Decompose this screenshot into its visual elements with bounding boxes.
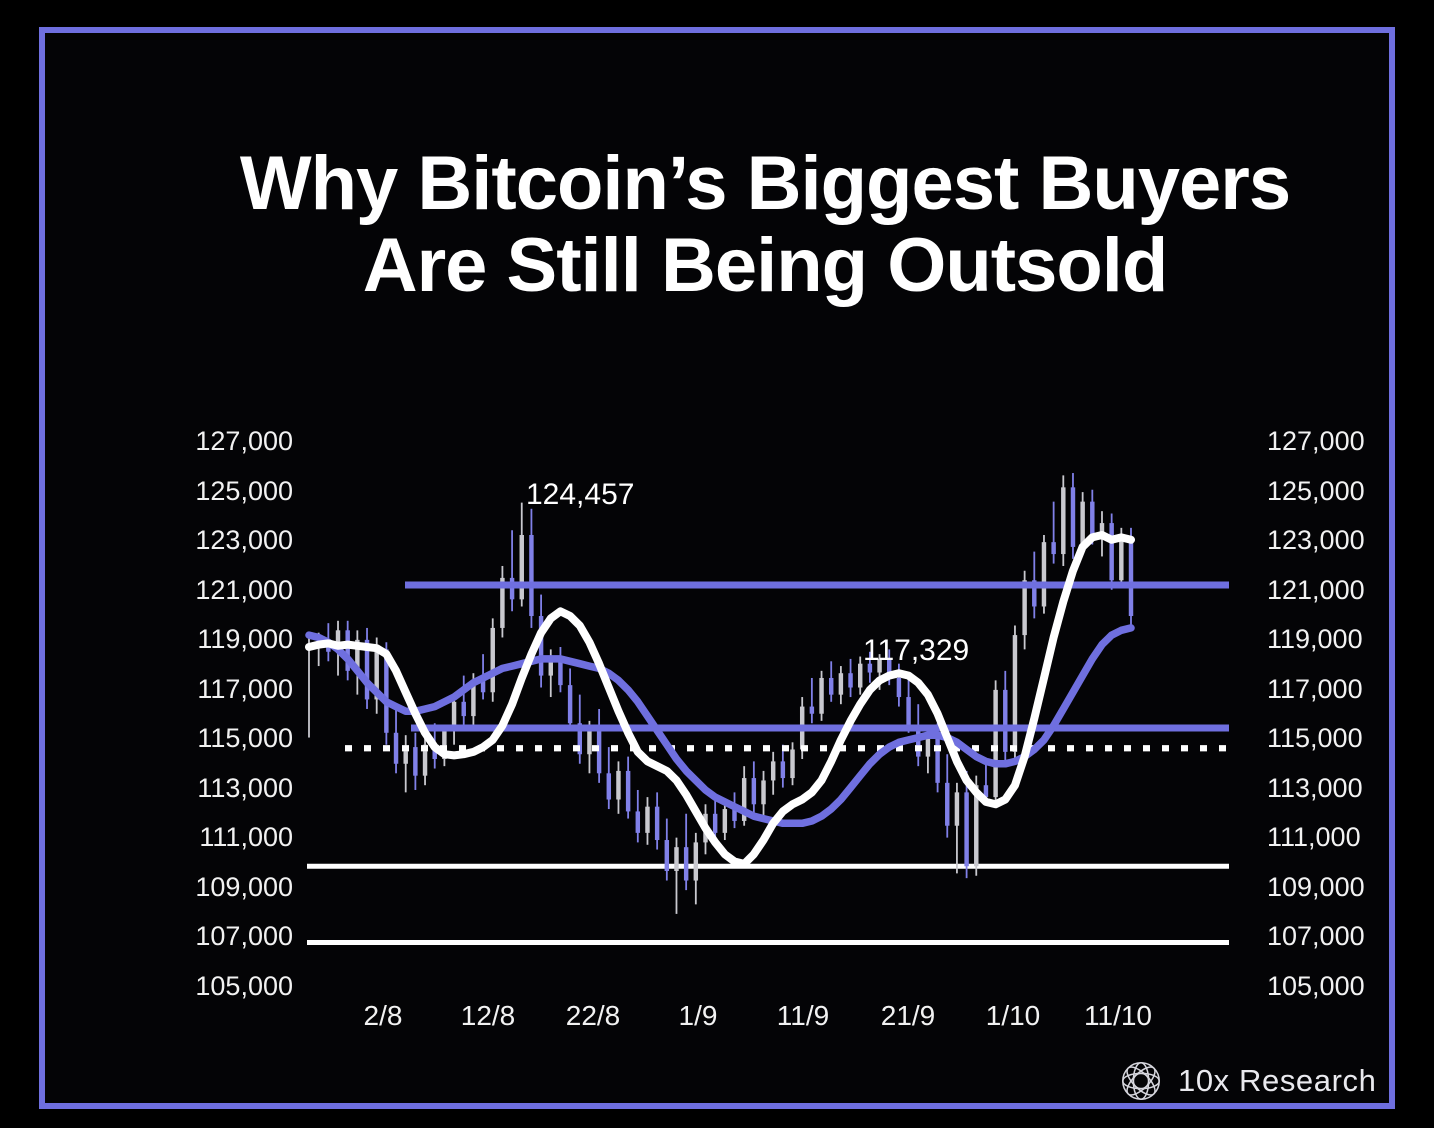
- title-line-1: Why Bitcoin’s Biggest Buyers: [240, 141, 1290, 226]
- candle-body: [752, 778, 756, 804]
- y-tick-right-10: 107,000: [1267, 912, 1434, 962]
- candle-body: [1119, 537, 1123, 580]
- candle-body: [694, 842, 698, 880]
- candle-body: [723, 809, 727, 833]
- candle-body: [510, 578, 514, 599]
- candle-body: [645, 807, 649, 833]
- y-tick-right-3: 121,000: [1267, 566, 1434, 616]
- candle-body: [858, 664, 862, 688]
- candle-body: [713, 814, 717, 833]
- candlestick-plot: [303, 423, 1229, 983]
- candle-body: [964, 792, 968, 866]
- candle-body: [587, 730, 591, 754]
- y-tick-left-0: 127,000: [123, 417, 293, 467]
- candle-body: [1051, 542, 1055, 554]
- y-tick-left-6: 115,000: [123, 714, 293, 764]
- y-tick-left-2: 123,000: [123, 516, 293, 566]
- y-tick-right-11: 105,000: [1267, 962, 1434, 1012]
- x-tick-1: 12/8: [461, 1000, 516, 1032]
- candle-body: [1090, 502, 1094, 535]
- candle-body: [839, 673, 843, 694]
- candle-body: [568, 685, 572, 723]
- candle-body: [413, 747, 417, 776]
- chart-svg: [303, 423, 1229, 983]
- x-tick-7: 11/10: [1084, 1000, 1152, 1032]
- x-tick-0: 2/8: [364, 1000, 403, 1032]
- y-tick-left-4: 119,000: [123, 615, 293, 665]
- candle-body: [848, 673, 852, 687]
- y-tick-left-11: 105,000: [123, 962, 293, 1012]
- y-tick-left-5: 117,000: [123, 665, 293, 715]
- candle-body: [819, 678, 823, 714]
- y-axis-right: 127,000125,000123,000121,000119,000117,0…: [1267, 417, 1434, 1011]
- candle-body: [491, 628, 495, 692]
- y-tick-left-9: 109,000: [123, 863, 293, 913]
- y-axis-left: 127,000125,000123,000121,000119,000117,0…: [123, 417, 293, 1011]
- candle-body: [616, 771, 620, 800]
- screenshot-root: Why Bitcoin’s Biggest Buyers Are Still B…: [0, 0, 1434, 1128]
- brand-watermark: 10x Research: [1118, 1052, 1376, 1110]
- y-tick-left-10: 107,000: [123, 912, 293, 962]
- x-axis: 2/812/822/81/911/921/91/1011/10: [303, 1000, 1229, 1044]
- annotation-swing-high: 124,457: [526, 478, 634, 512]
- candle-body: [1129, 537, 1133, 616]
- y-tick-left-7: 113,000: [123, 764, 293, 814]
- annotation-swing-mid: 117,329: [863, 634, 969, 668]
- candle-body: [993, 690, 997, 797]
- candle-body: [529, 535, 533, 616]
- candle-body: [1061, 487, 1065, 554]
- globe-sphere-icon: [1118, 1058, 1164, 1104]
- candle-body: [626, 771, 630, 812]
- y-tick-right-5: 117,000: [1267, 665, 1434, 715]
- title-line-2: Are Still Being Outsold: [105, 225, 1425, 307]
- candle-body: [520, 535, 524, 599]
- y-tick-left-3: 121,000: [123, 566, 293, 616]
- candle-body: [761, 780, 765, 804]
- y-tick-right-8: 111,000: [1267, 813, 1434, 863]
- candle-body: [935, 735, 939, 783]
- y-tick-right-4: 119,000: [1267, 615, 1434, 665]
- candle-body: [1042, 542, 1046, 606]
- candle-body: [597, 730, 601, 773]
- candle-body: [781, 761, 785, 778]
- y-tick-left-8: 111,000: [123, 813, 293, 863]
- candle-body: [906, 697, 910, 726]
- x-tick-6: 1/10: [986, 1000, 1041, 1032]
- x-tick-5: 21/9: [881, 1000, 936, 1032]
- candle-body: [665, 840, 669, 871]
- candle-body: [955, 792, 959, 825]
- candle-body: [945, 783, 949, 826]
- candle-body: [1071, 487, 1075, 547]
- candle-body: [636, 811, 640, 832]
- y-tick-left-1: 125,000: [123, 467, 293, 517]
- candle-body: [674, 847, 678, 871]
- candle-body: [462, 702, 466, 716]
- candle-body: [1109, 523, 1113, 580]
- y-tick-right-9: 109,000: [1267, 863, 1434, 913]
- y-tick-right-6: 115,000: [1267, 714, 1434, 764]
- candle-body: [1013, 635, 1017, 752]
- candle-body: [607, 773, 611, 799]
- x-tick-2: 22/8: [566, 1000, 621, 1032]
- candle-body: [771, 761, 775, 780]
- brand-name: 10x Research: [1178, 1063, 1376, 1099]
- candle-body: [1003, 690, 1007, 752]
- page-title: Why Bitcoin’s Biggest Buyers Are Still B…: [105, 143, 1425, 307]
- candle-body: [394, 733, 398, 764]
- candle-body: [790, 749, 794, 778]
- candle-body: [684, 847, 688, 880]
- candle-body: [829, 678, 833, 695]
- y-tick-right-1: 125,000: [1267, 467, 1434, 517]
- x-tick-4: 11/9: [777, 1000, 829, 1032]
- x-tick-3: 1/9: [679, 1000, 718, 1032]
- candle-body: [897, 678, 901, 697]
- candle-body: [810, 707, 814, 714]
- y-tick-right-2: 123,000: [1267, 516, 1434, 566]
- candle-body: [655, 807, 659, 840]
- y-tick-right-0: 127,000: [1267, 417, 1434, 467]
- y-tick-right-7: 113,000: [1267, 764, 1434, 814]
- chart-card: Why Bitcoin’s Biggest Buyers Are Still B…: [39, 27, 1395, 1109]
